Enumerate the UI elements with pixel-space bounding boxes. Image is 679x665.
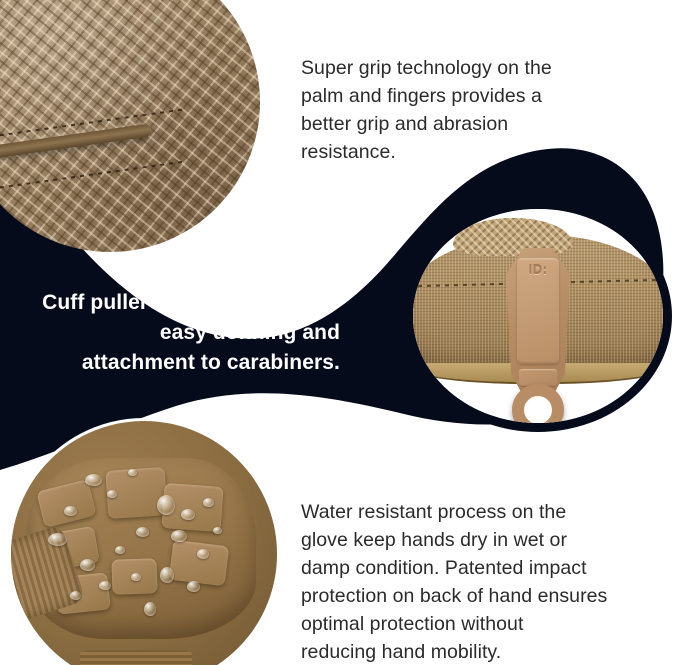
water-droplet	[64, 506, 77, 516]
caption-grip-technology: Super grip technology on the palm and fi…	[301, 54, 631, 166]
water-droplet	[107, 490, 117, 498]
caption-line: optimal protection without	[301, 610, 661, 638]
water-droplet	[197, 549, 209, 559]
water-droplet	[160, 567, 174, 583]
water-droplet	[99, 581, 111, 590]
caption-line: Cuff puller with loop allows	[20, 288, 340, 318]
water-droplet	[48, 533, 67, 546]
knuckle-guard	[168, 540, 228, 586]
water-droplet	[181, 509, 195, 520]
caption-line: resistance.	[301, 138, 631, 166]
caption-line: attachment to carabiners.	[20, 348, 340, 378]
caption-cuff-puller: Cuff puller with loop allows easy donnin…	[20, 288, 340, 378]
caption-line: easy donning and	[20, 318, 340, 348]
photo-cuff-puller: ID:	[404, 200, 672, 432]
water-droplet	[187, 581, 200, 592]
water-droplet	[128, 469, 137, 476]
caption-line: protection on back of hand ensures	[301, 582, 661, 610]
cuff-puller-tab: ID:	[506, 248, 570, 398]
caption-line: reducing hand mobility.	[301, 638, 661, 665]
caption-line: Super grip technology on the	[301, 54, 631, 82]
puller-id-label: ID:	[506, 262, 570, 277]
caption-line: better grip and abrasion	[301, 110, 631, 138]
water-droplet	[171, 530, 187, 542]
water-droplet	[115, 546, 125, 554]
caption-line: damp condition. Patented impact	[301, 554, 661, 582]
caption-line: palm and fingers provides a	[301, 82, 631, 110]
glove-wrist-strap	[80, 650, 192, 665]
product-feature-infographic: ID:	[0, 0, 679, 665]
photo-palm-grip-texture	[0, 0, 260, 252]
water-droplet	[131, 573, 141, 581]
caption-line: glove keep hands dry in wet or	[301, 526, 661, 554]
caption-water-resistance: Water resistant process on the glove kee…	[301, 498, 661, 665]
puller-loop-ring	[512, 384, 564, 432]
caption-line: Water resistant process on the	[301, 498, 661, 526]
water-droplet	[203, 498, 214, 507]
water-droplet	[144, 602, 156, 616]
water-droplet	[70, 591, 81, 600]
photo-glove-water-beading	[8, 418, 280, 665]
cuff-photo-inner: ID:	[413, 209, 663, 423]
